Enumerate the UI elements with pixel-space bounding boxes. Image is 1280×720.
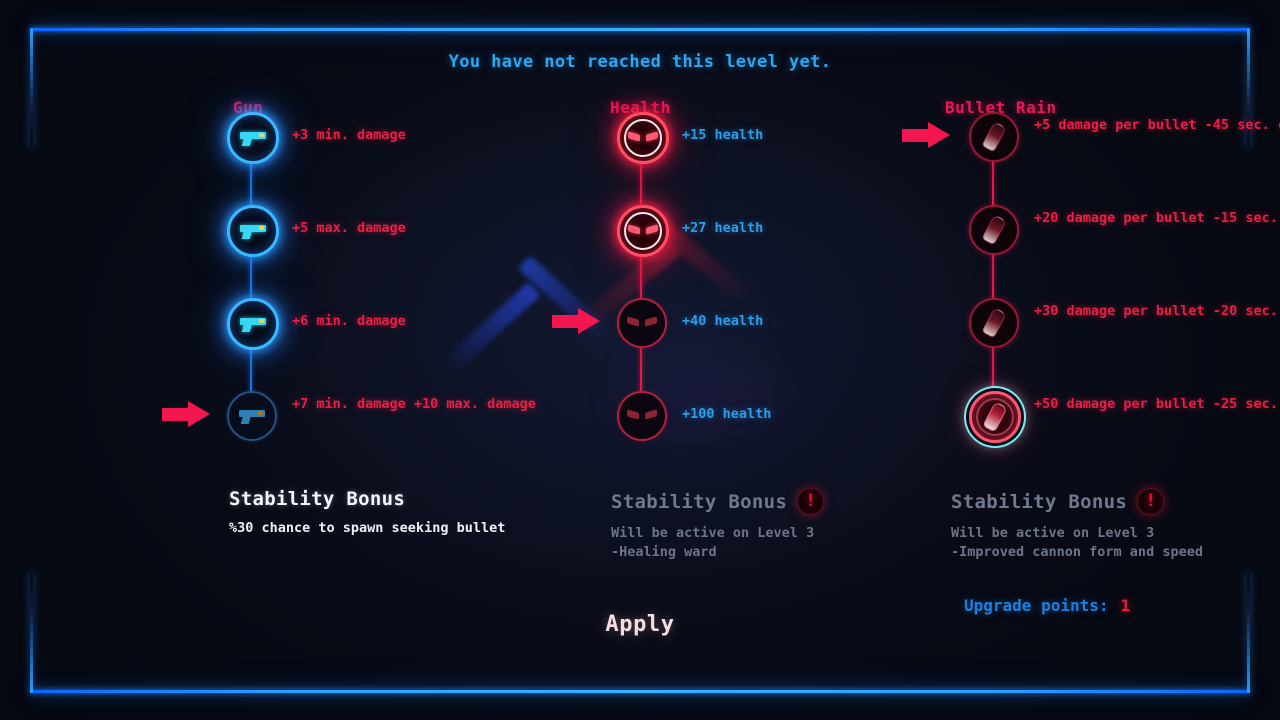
row-label: +15 health [682, 126, 763, 146]
upgrade-row[interactable]: +15 health [640, 135, 880, 228]
node-health-4[interactable] [617, 391, 667, 441]
row-label: +40 health [682, 312, 763, 332]
stability-bonus-title: Stability Bonus [951, 491, 1127, 513]
pistol-icon [240, 316, 266, 332]
upgrade-row[interactable]: +27 health [640, 228, 880, 321]
red-arrow-pointer-gun [162, 401, 210, 427]
pistol-icon [239, 408, 265, 424]
bullet-icon [981, 307, 1007, 338]
node-bullet-rain-2[interactable] [969, 205, 1019, 255]
level-notice: You have not reached this level yet. [0, 52, 1280, 72]
stability-bonus-desc: Will be active on Level 3 -Healing ward [611, 524, 824, 562]
stability-bonus-desc: Will be active on Level 3 -Improved cann… [951, 524, 1203, 562]
upgrade-points: Upgrade points:1 [964, 596, 1130, 615]
row-label: +6 min. damage [292, 312, 406, 332]
upgrade-points-label: Upgrade points: [964, 596, 1109, 615]
warning-icon: ! [797, 488, 824, 515]
upgrade-row[interactable]: +40 health [640, 321, 880, 414]
upgrade-screen: You have not reached this level yet. Gun… [0, 0, 1280, 720]
stability-bonus-gun: Stability Bonus %30 chance to spawn seek… [229, 488, 505, 538]
stability-bonus-desc: %30 chance to spawn seeking bullet [229, 519, 505, 538]
row-label: +7 min. damage +10 max. damage [292, 395, 536, 415]
stability-bonus-title: Stability Bonus [229, 488, 405, 510]
angry-face-icon [628, 226, 658, 236]
node-health-2[interactable] [617, 205, 669, 257]
red-arrow-pointer-health [552, 308, 600, 334]
node-gun-3[interactable] [227, 298, 279, 350]
row-label: +5 damage per bullet -45 sec. cooldown [1034, 116, 1280, 136]
node-health-3[interactable] [617, 298, 667, 348]
row-label: +50 damage per bullet -25 sec. cooldown [1034, 395, 1280, 415]
frame-bottom-border [30, 690, 1250, 693]
column-title-gun: Gun [233, 98, 490, 117]
node-gun-1[interactable] [227, 112, 279, 164]
upgrade-column-health: Health +15 health +27 health [510, 98, 880, 495]
frame-top-border [30, 28, 1250, 31]
bullet-icon [981, 121, 1007, 152]
node-health-1[interactable] [617, 112, 669, 164]
row-label: +100 health [682, 405, 771, 425]
node-bullet-rain-4[interactable] [969, 391, 1021, 443]
upgrade-column-bullet-rain: Bullet Rain +5 damage per bullet -45 sec… [860, 98, 1260, 495]
node-gun-2[interactable] [227, 205, 279, 257]
stability-bonus-title: Stability Bonus [611, 491, 787, 513]
upgrade-row[interactable]: +3 min. damage [250, 135, 490, 228]
stability-bonus-bullet-rain: Stability Bonus ! Will be active on Leve… [951, 488, 1203, 562]
pistol-icon [240, 223, 266, 239]
apply-button[interactable]: Apply [0, 612, 1280, 637]
red-arrow-pointer-bullet-rain [902, 122, 950, 148]
stability-bonus-health: Stability Bonus ! Will be active on Leve… [611, 488, 824, 562]
row-label: +20 damage per bullet -15 sec. cooldown [1034, 209, 1280, 229]
angry-face-icon [627, 318, 657, 328]
row-label: +27 health [682, 219, 763, 239]
bullet-icon [981, 214, 1007, 245]
upgrade-row[interactable]: +5 max. damage [250, 228, 490, 321]
node-bullet-rain-1[interactable] [969, 112, 1019, 162]
angry-face-icon [628, 133, 658, 143]
upgrade-column-gun: Gun +3 min. damage +5 max. damag [120, 98, 490, 495]
warning-icon: ! [1137, 488, 1164, 515]
upgrade-points-value: 1 [1121, 596, 1131, 615]
row-label: +5 max. damage [292, 219, 406, 239]
node-gun-4[interactable] [227, 391, 277, 441]
angry-face-icon [627, 411, 657, 421]
row-label: +3 min. damage [292, 126, 406, 146]
frame-left-top-bracket [30, 28, 33, 148]
pistol-icon [240, 130, 266, 146]
row-label: +30 damage per bullet -20 sec. cooldown [1034, 302, 1280, 322]
node-bullet-rain-3[interactable] [969, 298, 1019, 348]
